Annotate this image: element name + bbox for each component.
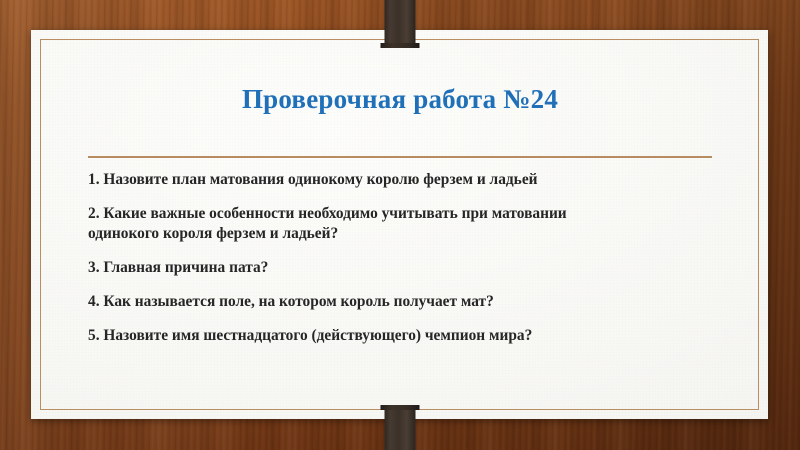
question-list: 1. Назовите план матования одинокому кор… (88, 170, 708, 360)
title-divider (88, 156, 712, 158)
list-item: 4. Как называется поле, на котором корол… (88, 292, 708, 312)
list-item: 5. Назовите имя шестнадцатого (действующ… (88, 326, 708, 346)
list-item: 2. Какие важные особенности необходимо у… (88, 204, 618, 244)
page-title: Проверочная работа №24 (0, 85, 800, 115)
slide-content: Проверочная работа №24 1. Назовите план … (0, 0, 800, 450)
list-item: 3. Главная причина пата? (88, 258, 708, 278)
list-item: 1. Назовите план матования одинокому кор… (88, 170, 708, 190)
presentation-slide: Проверочная работа №24 1. Назовите план … (0, 0, 800, 450)
